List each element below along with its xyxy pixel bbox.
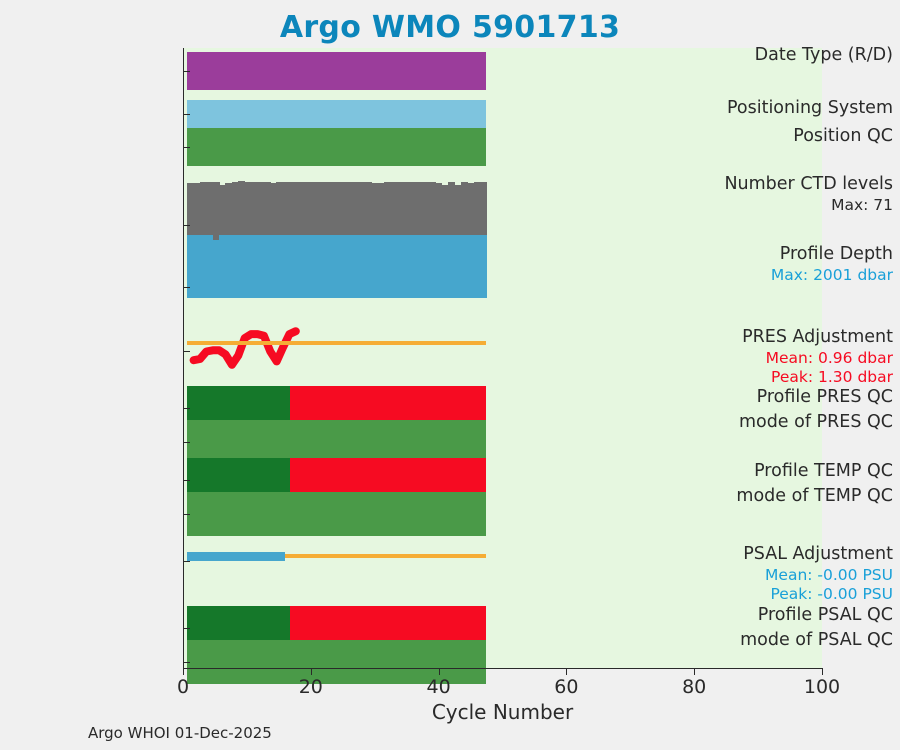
x-tick-label: 40 [427, 676, 451, 698]
y-label-profile_psal_qc: Profile PSAL QC [717, 607, 900, 625]
y-tick-pres_adjustment [183, 351, 190, 352]
y-label-profile_pres_qc: Profile PRES QC [717, 389, 900, 407]
page-title: Argo WMO 5901713 [0, 10, 900, 45]
x-tick [566, 668, 567, 675]
y-tick-mode_psal_qc [183, 662, 190, 663]
y-tick-profile_pres_qc [183, 408, 190, 409]
x-tick-label: 0 [177, 676, 189, 698]
argo-float-summary-figure: Argo WMO 5901713 020406080100 Cycle Numb… [0, 0, 900, 750]
y-label-mode_pres_qc: mode of PRES QC [717, 414, 900, 432]
y-tick-positioning [183, 114, 190, 115]
x-tick [439, 668, 440, 675]
y-tick-ctd_levels [183, 225, 190, 226]
series-line-seg-psal_adjustment-1 [285, 554, 486, 558]
y-label-position_qc: Position QC [717, 128, 900, 146]
y-tick-position_qc [183, 147, 190, 148]
y-label-note-pres_adjustment: Mean: 0.96 dbar [717, 351, 900, 367]
y-label-profile_temp_qc: Profile TEMP QC [717, 463, 900, 481]
y-label-date_type: Date Type (R/D) [717, 47, 900, 65]
y-tick-date_type [183, 71, 190, 72]
x-tick [822, 668, 823, 675]
y-label-mode_temp_qc: mode of TEMP QC [717, 488, 900, 506]
y-tick-profile_temp_qc [183, 480, 190, 481]
y-tick-profile_psal_qc [183, 628, 190, 629]
y-label-note-psal_adjustment: Mean: -0.00 PSU [717, 568, 900, 584]
y-label-profile_depth: Profile Depth [717, 246, 900, 264]
series-line-seg-psal_adjustment-0 [187, 552, 285, 561]
y-label-pres_adjustment: PRES Adjustment [717, 329, 900, 347]
overlay-polyline [194, 331, 296, 365]
y-label-note-ctd_levels: Max: 71 [717, 198, 900, 214]
x-axis-line [183, 668, 822, 669]
series-band-mode_temp_qc [187, 492, 486, 536]
x-axis-label: Cycle Number [183, 700, 822, 724]
y-tick-profile_depth [183, 287, 190, 288]
x-tick-label: 80 [682, 676, 706, 698]
y-label-mode_psal_qc: mode of PSAL QC [717, 632, 900, 650]
y-label-note-profile_depth: Max: 2001 dbar [717, 268, 900, 284]
x-tick [311, 668, 312, 675]
x-tick [183, 668, 184, 675]
y-tick-mode_temp_qc [183, 514, 190, 515]
x-tick-label: 20 [299, 676, 323, 698]
y-label-positioning: Positioning System [717, 100, 900, 118]
y-tick-psal_adjustment [183, 561, 190, 562]
x-tick [694, 668, 695, 675]
y-label-note2-psal_adjustment: Peak: -0.00 PSU [717, 587, 900, 603]
series-line-pres_adjustment [187, 341, 486, 345]
x-tick-label: 100 [804, 676, 840, 698]
y-label-ctd_levels: Number CTD levels [717, 176, 900, 194]
x-tick-label: 60 [554, 676, 578, 698]
y-label-psal_adjustment: PSAL Adjustment [717, 546, 900, 564]
y-tick-mode_pres_qc [183, 442, 190, 443]
figure-footer: Argo WHOI 01-Dec-2025 [88, 724, 272, 742]
y-label-note2-pres_adjustment: Peak: 1.30 dbar [717, 370, 900, 386]
